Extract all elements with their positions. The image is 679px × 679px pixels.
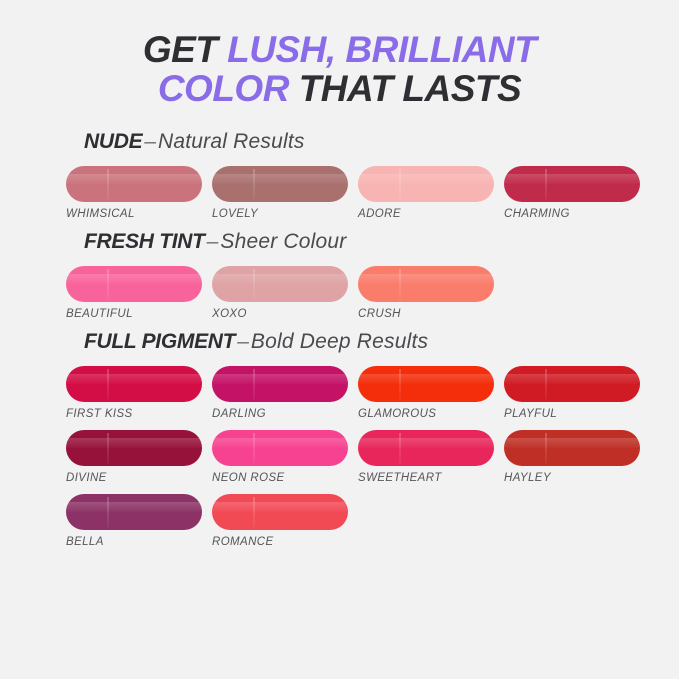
swatch-label-sweetheart: SWEETHEART: [358, 472, 494, 484]
swatch-cell-playful[interactable]: PLAYFUL: [504, 366, 640, 420]
swatch-label-xoxo: XOXO: [212, 308, 348, 320]
swatch-label-divine: DIVINE: [66, 472, 202, 484]
swatch-rows-fresh-tint: BEAUTIFUL XOXO CRUSH: [66, 266, 669, 320]
swatch-label-neon-rose: NEON ROSE: [212, 472, 348, 484]
section-fresh-tint: FRESH TINT–Sheer Colour BEAUTIFUL XOXO C…: [66, 230, 669, 320]
swatch-cell-first-kiss[interactable]: FIRST KISS: [66, 366, 202, 420]
swatch-cell-divine[interactable]: DIVINE: [66, 430, 202, 484]
swatch-row: WHIMSICAL LOVELY ADORE CHARMING: [66, 166, 669, 220]
swatch-cell-charming[interactable]: CHARMING: [504, 166, 640, 220]
swatch-label-charming: CHARMING: [504, 208, 640, 220]
swatch-label-glamorous: GLAMOROUS: [358, 408, 494, 420]
swatch-cell-glamorous[interactable]: GLAMOROUS: [358, 366, 494, 420]
swatch-label-beautiful: BEAUTIFUL: [66, 308, 202, 320]
swatch-color-first-kiss[interactable]: [66, 366, 202, 402]
swatch-row: DIVINE NEON ROSE SWEETHEART HAYLEY: [66, 430, 669, 484]
swatch-cell-whimsical[interactable]: WHIMSICAL: [66, 166, 202, 220]
headline-color-text: COLOR: [158, 68, 299, 109]
section-title-nude: NUDE–Natural Results: [84, 130, 669, 154]
swatch-label-first-kiss: FIRST KISS: [66, 408, 202, 420]
section-name: FULL PIGMENT: [84, 330, 235, 353]
headline-that-lasts-text: THAT LASTS: [299, 68, 521, 109]
swatch-color-lovely[interactable]: [212, 166, 348, 202]
swatch-cell-adore[interactable]: ADORE: [358, 166, 494, 220]
swatch-color-adore[interactable]: [358, 166, 494, 202]
swatch-color-bella[interactable]: [66, 494, 202, 530]
swatch-color-crush[interactable]: [358, 266, 494, 302]
swatch-color-playful[interactable]: [504, 366, 640, 402]
swatch-cell-sweetheart[interactable]: SWEETHEART: [358, 430, 494, 484]
swatch-color-beautiful[interactable]: [66, 266, 202, 302]
shade-sections: NUDE–Natural Results WHIMSICAL LOVELY AD…: [0, 130, 679, 548]
section-subtitle: Sheer Colour: [220, 230, 346, 253]
headline-get-text: GET: [143, 29, 227, 70]
swatch-label-hayley: HAYLEY: [504, 472, 640, 484]
swatch-cell-darling[interactable]: DARLING: [212, 366, 348, 420]
section-subtitle: Bold Deep Results: [251, 330, 428, 353]
swatch-color-hayley[interactable]: [504, 430, 640, 466]
swatch-label-playful: PLAYFUL: [504, 408, 640, 420]
swatch-label-romance: ROMANCE: [212, 536, 348, 548]
swatch-cell-xoxo[interactable]: XOXO: [212, 266, 348, 320]
swatch-cell-bella[interactable]: BELLA: [66, 494, 202, 548]
page-title: GET LUSH, BRILLIANT COLOR THAT LASTS: [0, 0, 679, 108]
swatch-color-divine[interactable]: [66, 430, 202, 466]
swatch-label-bella: BELLA: [66, 536, 202, 548]
section-title-full-pigment: FULL PIGMENT–Bold Deep Results: [84, 330, 669, 354]
swatch-color-charming[interactable]: [504, 166, 640, 202]
swatch-label-crush: CRUSH: [358, 308, 494, 320]
swatch-label-lovely: LOVELY: [212, 208, 348, 220]
section-subtitle: Natural Results: [158, 130, 305, 153]
swatch-row: FIRST KISS DARLING GLAMOROUS PLAYFUL: [66, 366, 669, 420]
swatch-cell-crush[interactable]: CRUSH: [358, 266, 494, 320]
swatch-color-xoxo[interactable]: [212, 266, 348, 302]
swatch-color-whimsical[interactable]: [66, 166, 202, 202]
headline-line-2: COLOR THAT LASTS: [0, 69, 679, 108]
section-name: FRESH TINT: [84, 230, 205, 253]
section-nude: NUDE–Natural Results WHIMSICAL LOVELY AD…: [66, 130, 669, 220]
section-full-pigment: FULL PIGMENT–Bold Deep Results FIRST KIS…: [66, 330, 669, 548]
swatch-cell-hayley[interactable]: HAYLEY: [504, 430, 640, 484]
section-dash: –: [235, 330, 251, 353]
swatch-row: BEAUTIFUL XOXO CRUSH: [66, 266, 669, 320]
swatch-color-sweetheart[interactable]: [358, 430, 494, 466]
swatch-color-neon-rose[interactable]: [212, 430, 348, 466]
swatch-cell-beautiful[interactable]: BEAUTIFUL: [66, 266, 202, 320]
headline-line-1: GET LUSH, BRILLIANT: [0, 30, 679, 69]
lipstick-shade-chart: GET LUSH, BRILLIANT COLOR THAT LASTS NUD…: [0, 0, 679, 679]
swatch-rows-full-pigment: FIRST KISS DARLING GLAMOROUS PLAYFUL: [66, 366, 669, 548]
section-dash: –: [205, 230, 221, 253]
swatch-row: BELLA ROMANCE: [66, 494, 669, 548]
section-dash: –: [142, 130, 158, 153]
swatch-cell-lovely[interactable]: LOVELY: [212, 166, 348, 220]
swatch-label-darling: DARLING: [212, 408, 348, 420]
section-name: NUDE: [84, 130, 142, 153]
swatch-label-adore: ADORE: [358, 208, 494, 220]
swatch-label-whimsical: WHIMSICAL: [66, 208, 202, 220]
swatch-rows-nude: WHIMSICAL LOVELY ADORE CHARMING: [66, 166, 669, 220]
swatch-color-glamorous[interactable]: [358, 366, 494, 402]
section-title-fresh-tint: FRESH TINT–Sheer Colour: [84, 230, 669, 254]
swatch-cell-romance[interactable]: ROMANCE: [212, 494, 348, 548]
swatch-cell-neon-rose[interactable]: NEON ROSE: [212, 430, 348, 484]
swatch-color-romance[interactable]: [212, 494, 348, 530]
swatch-color-darling[interactable]: [212, 366, 348, 402]
headline-lush-brilliant-text: LUSH, BRILLIANT: [227, 29, 536, 70]
